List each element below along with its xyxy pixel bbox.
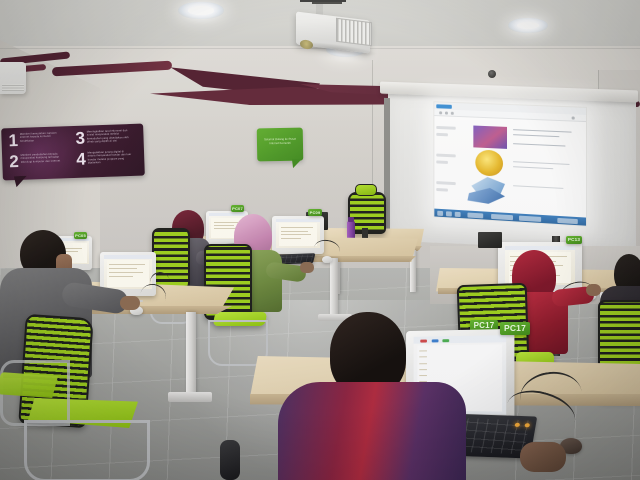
panel-number: 1 — [8, 133, 18, 148]
panel-text: Mengalakkan jurang digital di antara mas… — [87, 150, 131, 165]
hand — [120, 296, 140, 310]
ceiling-light-right — [508, 18, 548, 33]
desk-foot — [168, 392, 212, 402]
chair-armrest-foreground — [220, 440, 240, 480]
panel-number: 2 — [9, 154, 19, 169]
chair-seat-foreground-left[interactable] — [0, 372, 58, 398]
projected-thumbnail-purple — [473, 126, 507, 149]
ceiling-light-left — [178, 2, 224, 19]
panel-number: 3 — [75, 131, 85, 146]
pc-tag-mid-center: PC09 — [308, 209, 322, 216]
hand — [300, 262, 314, 273]
bottle-cap — [348, 217, 354, 222]
classroom-photo: 1 Memberi kemudahan capaian internet kep… — [0, 0, 640, 480]
browser-tab-icon — [436, 104, 452, 109]
mission-statement-panel: 1 Memberi kemudahan capaian internet kep… — [1, 124, 145, 181]
pc-tag-left-back: PC05 — [74, 232, 87, 239]
speech-bubble-text: Selamat Datang ke Pusat Internet Komunit… — [262, 138, 298, 146]
cpu-tower — [478, 232, 502, 248]
projected-thumbnail-badge — [475, 149, 503, 176]
chair-headrest — [355, 184, 377, 196]
pc-tag-mid-left: PC07 — [231, 205, 244, 212]
chair-frame — [24, 420, 150, 480]
desk-leg — [330, 258, 338, 316]
panel-text: Memberi kemudahan capaian internet kepad… — [20, 131, 64, 143]
hand — [520, 442, 566, 472]
green-speech-bubble: Selamat Datang ke Pusat Internet Komunit… — [257, 128, 304, 162]
pc-tag-right-back: PC13 — [566, 236, 582, 244]
desk-leg — [186, 312, 196, 396]
air-conditioner-grill — [2, 84, 24, 91]
projected-browser-window — [433, 101, 587, 227]
panel-text: Meningkatkan taraf ekonomi dan sosial ma… — [87, 129, 131, 144]
projector-vent — [336, 18, 372, 46]
panel-text: Memberi pendedahan kepada masyarakat kam… — [21, 152, 65, 164]
pc-tag-foreground: PC17 — [500, 322, 530, 335]
ceiling-camera-icon — [488, 70, 496, 78]
hand — [586, 284, 601, 296]
panel-number: 4 — [76, 152, 86, 167]
torso — [278, 382, 466, 480]
